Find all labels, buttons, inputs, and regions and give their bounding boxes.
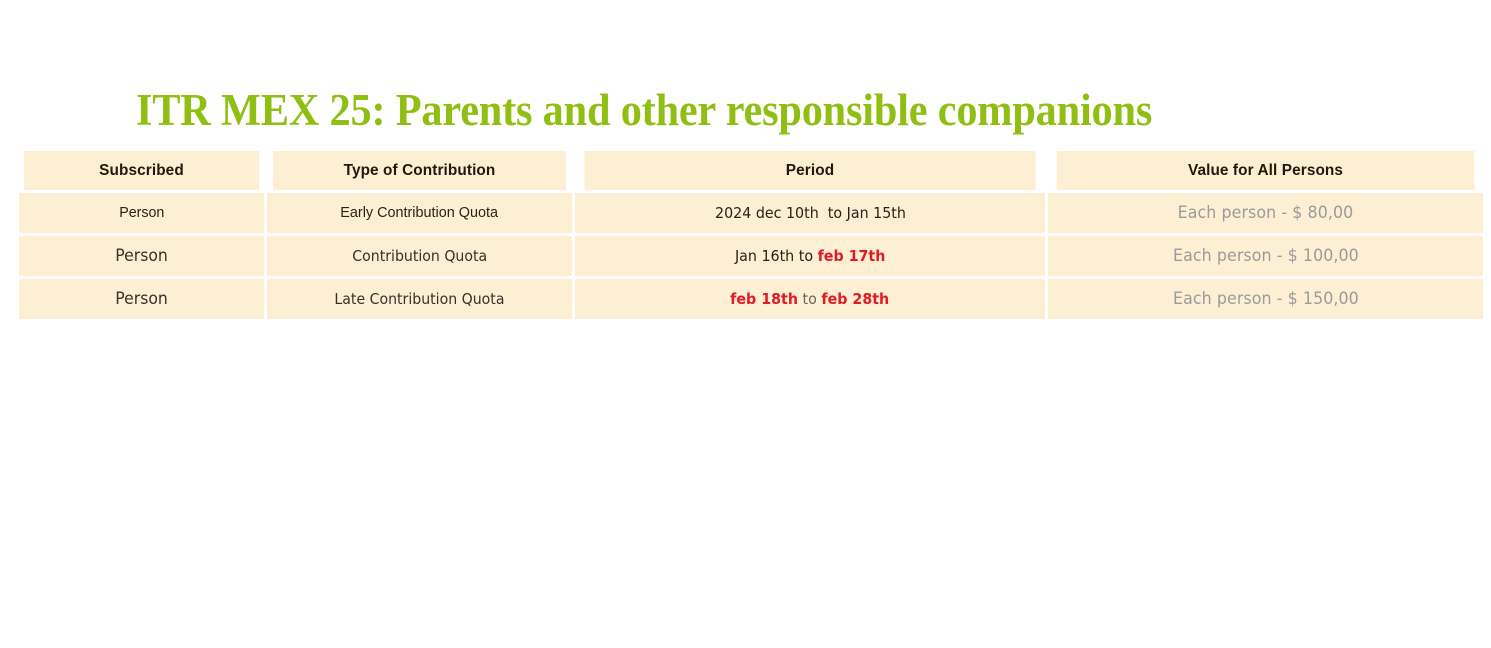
cell-value: Each person - $ 100,00: [1048, 236, 1483, 276]
period-value: 2024 dec 10th to Jan 15th: [715, 204, 906, 222]
value-amount: Each person - $ 100,00: [1173, 246, 1359, 266]
period-plain-text: 2024 dec 10th to Jan 15th: [715, 204, 906, 222]
cell-subscribed: Person: [19, 193, 264, 233]
table-row: Person Late Contribution Quota feb 18th …: [19, 279, 1483, 319]
table-header: Subscribed Type of Contribution Period V…: [19, 151, 1483, 190]
column-header-value-for-all-persons: Value for All Persons: [1057, 151, 1475, 190]
subscribed-value: Person: [115, 289, 168, 309]
period-connector: to: [798, 290, 821, 308]
type-of-contribution-value: Late Contribution Quota: [334, 290, 504, 308]
cell-subscribed: Person: [19, 236, 264, 276]
cell-value: Each person - $ 150,00: [1048, 279, 1483, 319]
period-value: feb 18th to feb 28th: [730, 290, 889, 308]
table-row: Person Early Contribution Quota 2024 dec…: [19, 193, 1483, 233]
cell-period: 2024 dec 10th to Jan 15th: [575, 193, 1045, 233]
value-amount: Each person - $ 150,00: [1173, 289, 1359, 309]
page-title: ITR MEX 25: Parents and other responsibl…: [136, 82, 1283, 138]
subscribed-value: Person: [119, 204, 164, 221]
cell-period: feb 18th to feb 28th: [575, 279, 1045, 319]
column-header-type-of-contribution: Type of Contribution: [273, 151, 566, 190]
table-row: Person Contribution Quota Jan 16th to fe…: [19, 236, 1483, 276]
period-value: Jan 16th to feb 17th: [735, 247, 885, 265]
cell-type-of-contribution: Early Contribution Quota: [267, 193, 572, 233]
contribution-table: Subscribed Type of Contribution Period V…: [16, 148, 1486, 322]
column-header-period: Period: [584, 151, 1035, 190]
value-amount: Each person - $ 80,00: [1178, 203, 1354, 223]
table-header-row: Subscribed Type of Contribution Period V…: [19, 151, 1483, 190]
type-of-contribution-value: Contribution Quota: [352, 247, 487, 265]
table-body: Person Early Contribution Quota 2024 dec…: [19, 193, 1483, 319]
column-header-subscribed: Subscribed: [24, 151, 259, 190]
period-highlight-date: feb 17th: [817, 247, 885, 265]
type-of-contribution-value: Early Contribution Quota: [341, 204, 499, 221]
cell-period: Jan 16th to feb 17th: [575, 236, 1045, 276]
period-highlight-date: feb 18th: [730, 290, 798, 308]
cell-value: Each person - $ 80,00: [1048, 193, 1483, 233]
period-highlight-date-2: feb 28th: [822, 290, 890, 308]
period-plain-text: Jan 16th to: [735, 247, 818, 265]
cell-type-of-contribution: Contribution Quota: [267, 236, 572, 276]
cell-subscribed: Person: [19, 279, 264, 319]
subscribed-value: Person: [115, 246, 168, 266]
document-page: ITR MEX 25: Parents and other responsibl…: [0, 0, 1491, 648]
cell-type-of-contribution: Late Contribution Quota: [267, 279, 572, 319]
